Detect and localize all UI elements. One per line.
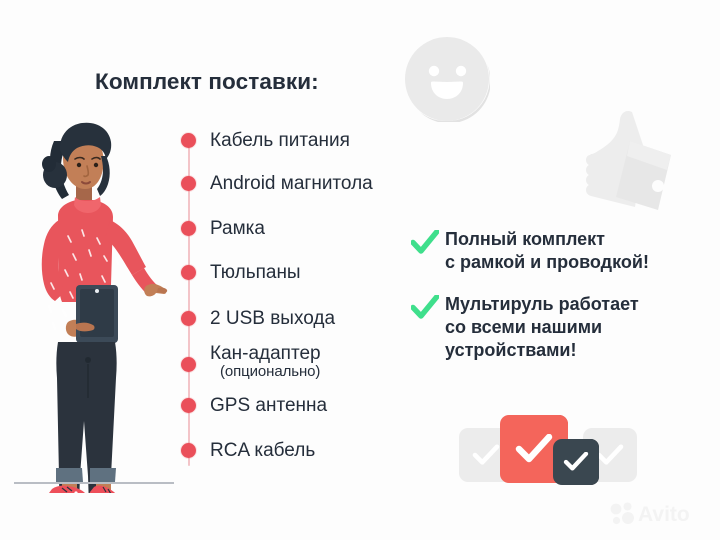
list-item: Рамка <box>178 218 438 239</box>
checkbox-card-dark <box>553 439 599 485</box>
avito-watermark: Avito <box>608 500 708 526</box>
list-item: Android магнитола <box>178 173 438 194</box>
green-check-icon <box>411 295 439 321</box>
list-item-label: Тюльпаны <box>210 262 301 283</box>
list-item-label-sub: (опционально) <box>220 364 321 381</box>
list-item-label-main: Кан-адаптер <box>210 343 321 364</box>
list-item-label: Android магнитола <box>210 173 373 194</box>
bullet-dot <box>181 221 196 236</box>
list-item: Кабель питания <box>178 130 438 151</box>
avito-watermark-label: Avito <box>638 503 690 526</box>
bullet-dot <box>181 133 196 148</box>
bullet-dot <box>181 265 196 280</box>
thumbs-up-icon <box>566 108 682 216</box>
bullet-dot <box>181 398 196 413</box>
bullet-dot <box>181 357 196 372</box>
bullet-dot <box>181 443 196 458</box>
list-item: 2 USB выхода <box>178 308 438 329</box>
benefits-block: Полный комплект с рамкой и проводкой! Му… <box>411 228 701 361</box>
list-item-label: Рамка <box>210 218 265 239</box>
page-title: Комплект поставки: <box>95 69 319 95</box>
smiley-face-icon <box>404 36 490 122</box>
benefit-item: Полный комплект с рамкой и проводкой! <box>411 228 701 273</box>
list-item-label: Кабель питания <box>210 130 350 151</box>
bullet-dot <box>181 176 196 191</box>
list-item: Кан-адаптер (опционально) <box>178 343 438 381</box>
poster-canvas: Комплект поставки: Кабель питания Androi… <box>0 0 720 540</box>
ground-line <box>14 482 174 484</box>
woman-pointing-illustration <box>18 108 168 493</box>
list-item-label: 2 USB выхода <box>210 308 335 329</box>
list-item-label: GPS антенна <box>210 395 327 416</box>
benefit-label: Мультируль работает со всеми нашими устр… <box>445 293 639 361</box>
benefit-label: Полный комплект с рамкой и проводкой! <box>445 228 649 273</box>
green-check-icon <box>411 230 439 256</box>
list-item: GPS антенна <box>178 395 438 416</box>
benefit-item: Мультируль работает со всеми нашими устр… <box>411 293 701 361</box>
list-item-label: RCA кабель <box>210 440 315 461</box>
checkbox-card-cluster <box>459 410 637 490</box>
list-item-label: Кан-адаптер (опционально) <box>210 343 321 381</box>
list-item: Тюльпаны <box>178 262 438 283</box>
list-item: RCA кабель <box>178 440 438 461</box>
bullet-dot <box>181 311 196 326</box>
